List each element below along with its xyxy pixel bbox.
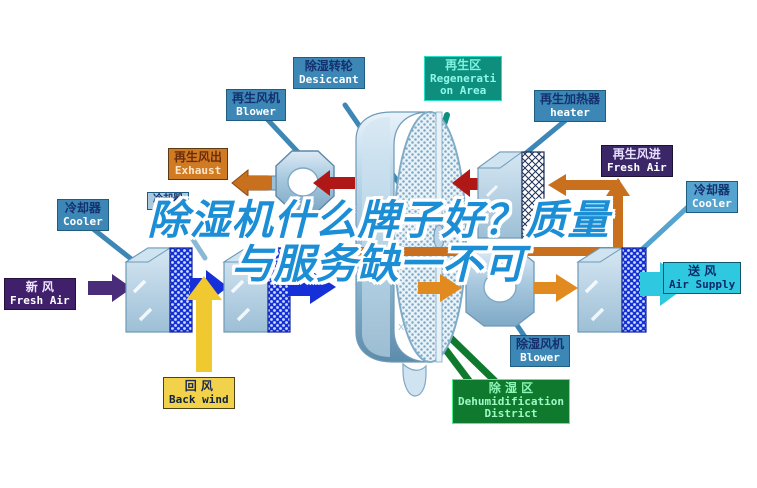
cooler-unit-2 bbox=[224, 248, 290, 332]
label-regen-fresh-air-in-en: Fresh Air bbox=[607, 162, 667, 174]
label-air-supply-cn: 送 风 bbox=[669, 265, 735, 278]
label-regen-blower: 再生风机 Blower bbox=[226, 89, 286, 121]
cooler-unit-3 bbox=[578, 248, 646, 332]
label-regen-fresh-air-in: 再生风进 Fresh Air bbox=[601, 145, 673, 177]
diagram-artwork: xh bbox=[0, 0, 757, 488]
label-cooler-right-en: Cooler bbox=[692, 198, 732, 210]
label-back-wind: 回 风 Back wind bbox=[163, 377, 235, 409]
label-regen-blower-en: Blower bbox=[232, 106, 280, 118]
label-dehum-blower-en: Blower bbox=[516, 352, 564, 364]
label-desiccant-wheel-en: Desiccant bbox=[299, 74, 359, 86]
label-dehum-blower: 除湿风机 Blower bbox=[510, 335, 570, 367]
label-regen-heater: 再生加热器 heater bbox=[534, 90, 606, 122]
label-desiccant-wheel: 除湿转轮 Desiccant bbox=[293, 57, 365, 89]
label-dehumidification-district: 除 湿 区 Dehumidification District bbox=[452, 379, 570, 424]
label-cooler-mid: 冷却器 bbox=[147, 192, 189, 210]
label-back-wind-cn: 回 风 bbox=[169, 380, 229, 393]
label-cooler-mid-cn: 冷却器 bbox=[153, 195, 183, 206]
heater-unit bbox=[478, 152, 544, 238]
label-fresh-air-in-cn: 新 风 bbox=[10, 281, 70, 294]
label-back-wind-en: Back wind bbox=[169, 394, 229, 406]
label-fresh-air-in: 新 风 Fresh Air bbox=[4, 278, 76, 310]
condensate-drop bbox=[403, 364, 426, 396]
desiccant-rotor: xh bbox=[356, 112, 466, 362]
label-regen-exhaust-en: Exhaust bbox=[174, 165, 222, 177]
dehum-blower-unit bbox=[466, 248, 534, 326]
label-cooler-right-cn: 冷却器 bbox=[692, 184, 732, 197]
label-cooler-right: 冷却器 Cooler bbox=[686, 181, 738, 213]
label-regen-exhaust: 再生风出 Exhaust bbox=[168, 148, 228, 180]
label-cooler-left-en: Cooler bbox=[63, 216, 103, 228]
label-regen-fresh-air-in-cn: 再生风进 bbox=[607, 148, 667, 161]
blower-out-arrow bbox=[534, 274, 578, 302]
cooler-unit-1 bbox=[126, 248, 192, 332]
diagram-canvas: xh bbox=[0, 0, 757, 488]
label-regeneration-area-en2: on Area bbox=[430, 85, 496, 97]
label-desiccant-wheel-cn: 除湿转轮 bbox=[299, 60, 359, 73]
label-cooler-left: 冷却器 Cooler bbox=[57, 199, 109, 231]
label-fresh-air-in-en: Fresh Air bbox=[10, 295, 70, 307]
label-cooler-left-cn: 冷却器 bbox=[63, 202, 103, 215]
label-regen-heater-cn: 再生加热器 bbox=[540, 93, 600, 106]
label-air-supply-en: Air Supply bbox=[669, 279, 735, 291]
precool-arrow-2 bbox=[288, 270, 336, 304]
exhaust-arrow bbox=[232, 170, 272, 196]
label-regeneration-area-cn: 再生区 bbox=[430, 59, 496, 72]
label-regeneration-area-en1: Regenerati bbox=[430, 73, 496, 85]
label-regen-heater-en: heater bbox=[540, 107, 600, 119]
label-dehumidification-district-en1: Dehumidification bbox=[458, 396, 564, 408]
label-dehum-blower-cn: 除湿风机 bbox=[516, 338, 564, 351]
label-regeneration-area: 再生区 Regenerati on Area bbox=[424, 56, 502, 101]
label-regen-exhaust-cn: 再生风出 bbox=[174, 151, 222, 164]
label-dehumidification-district-cn: 除 湿 区 bbox=[458, 382, 564, 395]
label-dehumidification-district-en2: District bbox=[458, 408, 564, 420]
label-regen-blower-cn: 再生风机 bbox=[232, 92, 280, 105]
svg-text:xh: xh bbox=[398, 320, 412, 333]
label-air-supply: 送 风 Air Supply bbox=[663, 262, 741, 294]
